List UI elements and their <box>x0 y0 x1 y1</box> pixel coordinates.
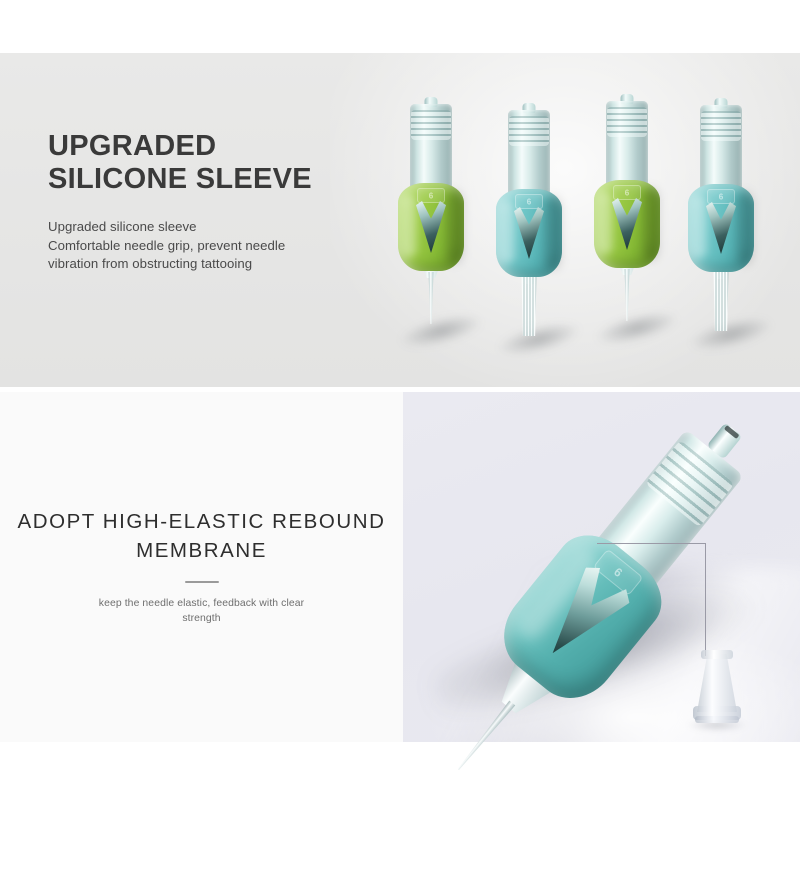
product-cartridge-3: 6 <box>587 101 667 361</box>
cartridge-ribs <box>607 107 647 137</box>
rebound-membrane-copy-panel: ADOPT HIGH-ELASTIC REBOUND MEMBRANE keep… <box>0 392 403 742</box>
brand-emboss-label: 6 <box>719 192 723 201</box>
hero-brand-emboss-label: 6 <box>611 565 625 580</box>
membrane-ring <box>695 716 739 723</box>
upgraded-silicone-sleeve-panel: UPGRADED SILICONE SLEEVE Upgraded silico… <box>0 53 800 387</box>
rebound-membrane-callout <box>691 648 743 726</box>
cartridge-ribs <box>701 111 741 141</box>
section-subtitle: keep the needle elastic, feedback with c… <box>77 597 327 626</box>
bottom-panel-copy: ADOPT HIGH-ELASTIC REBOUND MEMBRANE keep… <box>0 507 403 626</box>
product-feature-page: UPGRADED SILICONE SLEEVE Upgraded silico… <box>0 0 800 800</box>
top-panel-copy: UPGRADED SILICONE SLEEVE Upgraded silico… <box>48 130 378 274</box>
title-divider <box>185 581 219 583</box>
cartridge-ribs <box>509 116 549 146</box>
brand-emboss: 6 <box>613 185 641 200</box>
needle-tip-magnum <box>521 276 538 336</box>
membrane-body <box>697 654 737 712</box>
brand-emboss-label: 6 <box>527 197 531 206</box>
product-cartridge-4: 6 <box>681 105 761 365</box>
brand-emboss: 6 <box>515 194 543 209</box>
brand-emboss-label: 6 <box>625 188 629 197</box>
brand-emboss-label: 6 <box>429 191 433 200</box>
needle-tip-liner <box>624 269 631 321</box>
product-cartridge-1: 6 <box>391 104 471 364</box>
top-panel-description: Upgraded silicone sleeve Comfortable nee… <box>48 218 378 274</box>
section-title: ADOPT HIGH-ELASTIC REBOUND MEMBRANE <box>0 507 403 565</box>
brand-emboss: 6 <box>417 188 445 203</box>
cartridge-ribs <box>411 110 451 140</box>
callout-leader-line-vertical <box>705 543 706 656</box>
needle-tip-liner <box>428 272 435 324</box>
needle-tip-magnum <box>713 271 730 331</box>
page-title: UPGRADED SILICONE SLEEVE <box>48 130 378 196</box>
brand-emboss: 6 <box>707 189 735 204</box>
callout-leader-line-horizontal <box>597 543 706 544</box>
product-cartridge-2: 6 <box>489 110 569 370</box>
membrane-lip <box>701 650 733 659</box>
